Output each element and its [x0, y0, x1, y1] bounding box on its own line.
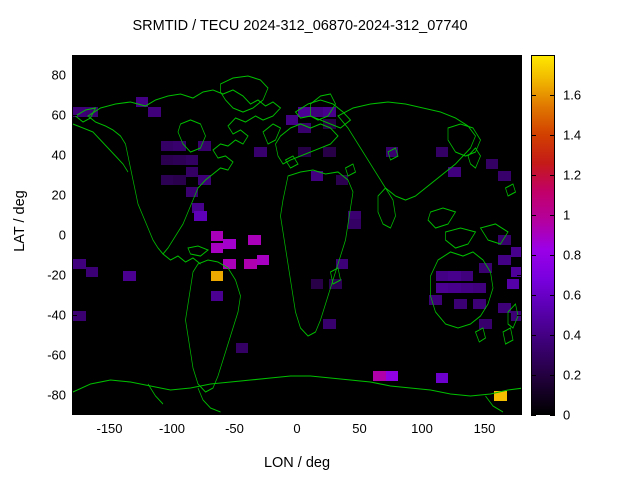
- heatmap-cell: [161, 155, 174, 165]
- x-axis-tick-label: -150: [96, 421, 122, 436]
- y-axis-tick: [72, 115, 77, 116]
- x-axis-tick: [172, 410, 173, 415]
- heatmap-cell: [436, 283, 449, 293]
- y-axis-tick: [72, 315, 77, 316]
- x-axis-tick: [297, 410, 298, 415]
- heatmap-cell: [161, 141, 174, 151]
- x-axis-label: LON / deg: [72, 455, 522, 471]
- heatmap-cell: [498, 255, 511, 265]
- x-axis-tick: [110, 410, 111, 415]
- heatmap-cell: [161, 175, 174, 185]
- heatmap-cell: [311, 171, 324, 181]
- y-axis-tick: [72, 195, 77, 196]
- heatmap-cell: [311, 279, 324, 289]
- x-axis-tick: [360, 55, 361, 60]
- heatmap-cell: [498, 303, 511, 313]
- heatmap-cell: [73, 311, 86, 321]
- heatmap-cell: [473, 283, 486, 293]
- y-axis-tick-label: 20: [28, 188, 66, 203]
- heatmap-cell: [436, 271, 449, 281]
- heatmap-cell: [429, 295, 442, 305]
- heatmap-cell: [311, 107, 324, 117]
- x-axis-tick-label: -50: [225, 421, 244, 436]
- heatmap-cell: [386, 147, 399, 157]
- colorbar-tick: [531, 95, 536, 96]
- y-axis-tick: [72, 395, 77, 396]
- heatmap-cell: [298, 107, 311, 117]
- heatmap-cell: [386, 371, 399, 381]
- heatmap-cell: [329, 279, 342, 289]
- colorbar-tick: [531, 135, 536, 136]
- heatmap-cell: [186, 155, 199, 165]
- x-axis-tick: [235, 410, 236, 415]
- heatmap-cell: [348, 219, 361, 229]
- y-axis-tick-label: 40: [28, 148, 66, 163]
- colorbar-tick-label: 0.8: [563, 248, 581, 263]
- x-axis-tick: [485, 410, 486, 415]
- heatmap-cell: [248, 235, 261, 245]
- heatmap-plot-area: [72, 55, 522, 415]
- colorbar-tick: [550, 215, 555, 216]
- colorbar-tick: [550, 135, 555, 136]
- colorbar-tick: [531, 335, 536, 336]
- colorbar-tick: [531, 255, 536, 256]
- x-axis-tick: [297, 55, 298, 60]
- heatmap-cell: [223, 239, 236, 249]
- heatmap-cell: [136, 97, 149, 107]
- y-axis-tick: [72, 75, 77, 76]
- heatmap-cell: [194, 211, 207, 221]
- heatmap-cell: [211, 291, 224, 301]
- heatmap-cell: [511, 311, 523, 321]
- page-title: SRMTID / TECU 2024-312_06870-2024-312_07…: [0, 18, 600, 34]
- colorbar-tick-label: 0.4: [563, 328, 581, 343]
- heatmap-cell: [186, 167, 199, 177]
- heatmap-cell: [198, 175, 211, 185]
- heatmap-cell: [86, 267, 99, 277]
- heatmap-cell: [448, 167, 461, 177]
- colorbar-tick: [550, 335, 555, 336]
- x-axis-tick: [172, 55, 173, 60]
- colorbar-tick-label: 0: [563, 408, 570, 423]
- heatmap-cell: [86, 107, 99, 117]
- heatmap-cell: [186, 187, 199, 197]
- heatmap-cell: [494, 391, 507, 401]
- heatmap-cell: [479, 263, 492, 273]
- x-axis-tick-label: -100: [159, 421, 185, 436]
- heatmap-cell: [461, 283, 474, 293]
- x-axis-tick-label: 50: [352, 421, 366, 436]
- y-axis-tick-label: -60: [28, 348, 66, 363]
- y-axis-tick-label: 60: [28, 108, 66, 123]
- colorbar-tick: [550, 295, 555, 296]
- heatmap-cell: [479, 319, 492, 329]
- colorbar-tick: [550, 375, 555, 376]
- heatmap-cell: [173, 175, 186, 185]
- colorbar-tick: [531, 215, 536, 216]
- heatmap-cell: [211, 243, 224, 253]
- heatmap-cell: [73, 259, 86, 269]
- x-axis-tick: [485, 55, 486, 60]
- y-axis-tick: [517, 355, 522, 356]
- heatmap-cell: [323, 107, 336, 117]
- y-axis-tick-label: -40: [28, 308, 66, 323]
- heatmap-cell: [244, 259, 257, 269]
- y-axis-tick: [517, 115, 522, 116]
- colorbar-tick: [550, 95, 555, 96]
- y-axis-tick-label: -20: [28, 268, 66, 283]
- x-axis-tick-label: 0: [293, 421, 300, 436]
- x-axis-tick: [360, 410, 361, 415]
- heatmap-cell: [323, 119, 336, 129]
- heatmap-cell: [298, 123, 311, 133]
- y-axis-tick: [517, 275, 522, 276]
- heatmap-cell: [473, 299, 486, 309]
- colorbar-tick-label: 1.6: [563, 88, 581, 103]
- heatmap-cell: [211, 231, 224, 241]
- heatmap-cell: [257, 255, 270, 265]
- heatmap-cell: [298, 147, 311, 157]
- heatmap-cell: [436, 373, 449, 383]
- y-axis-tick-label: -80: [28, 388, 66, 403]
- heatmap-cell: [323, 147, 336, 157]
- heatmap-cell: [173, 141, 186, 151]
- heatmap-cell: [486, 159, 499, 169]
- x-axis-tick: [422, 410, 423, 415]
- y-axis-label: LAT / deg: [12, 121, 28, 321]
- y-axis-tick: [72, 235, 77, 236]
- heatmap-cell: [211, 271, 224, 281]
- heatmap-cell: [123, 271, 136, 281]
- y-axis-tick: [517, 395, 522, 396]
- y-axis-tick: [72, 275, 77, 276]
- heatmap-cell: [336, 259, 349, 269]
- heatmap-cell: [148, 107, 161, 117]
- heatmap-cell: [373, 371, 386, 381]
- x-axis-tick: [235, 55, 236, 60]
- heatmap-cell: [223, 259, 236, 269]
- heatmap-cell: [254, 147, 267, 157]
- y-axis-tick: [517, 235, 522, 236]
- heatmap-cell: [436, 147, 449, 157]
- heatmap-cell: [323, 319, 336, 329]
- y-axis-tick: [517, 155, 522, 156]
- y-axis-tick: [517, 195, 522, 196]
- colorbar-tick: [531, 175, 536, 176]
- heatmap-cell: [507, 279, 520, 289]
- heatmap-cell: [336, 175, 349, 185]
- heatmap-cell: [173, 155, 186, 165]
- x-axis-tick: [422, 55, 423, 60]
- heatmap-cell: [286, 115, 299, 125]
- y-axis-tick: [72, 155, 77, 156]
- colorbar-tick-label: 1.4: [563, 128, 581, 143]
- heatmap-cell: [498, 235, 511, 245]
- colorbar-tick: [531, 375, 536, 376]
- y-axis-tick: [72, 355, 77, 356]
- colorbar-tick-label: 1: [563, 208, 570, 223]
- y-axis-tick-label: 0: [28, 228, 66, 243]
- colorbar-tick-label: 1.2: [563, 168, 581, 183]
- heatmap-cell: [454, 299, 467, 309]
- heatmap-cell: [511, 247, 523, 257]
- colorbar-tick: [550, 415, 555, 416]
- colorbar-tick: [550, 255, 555, 256]
- heatmap-cell: [448, 271, 461, 281]
- y-axis-tick: [517, 315, 522, 316]
- heatmap-cell: [448, 283, 461, 293]
- heatmap-cell: [236, 343, 249, 353]
- y-axis-tick-label: 80: [28, 68, 66, 83]
- heatmap-cell: [461, 271, 474, 281]
- y-axis-tick: [517, 75, 522, 76]
- colorbar-tick: [531, 415, 536, 416]
- heatmap-cells: [73, 56, 522, 415]
- colorbar-tick-label: 0.2: [563, 368, 581, 383]
- heatmap-cell: [498, 171, 511, 181]
- colorbar-tick-label: 0.6: [563, 288, 581, 303]
- x-axis-tick-label: 150: [474, 421, 496, 436]
- x-axis-tick-label: 100: [411, 421, 433, 436]
- x-axis-tick: [110, 55, 111, 60]
- colorbar: [531, 55, 555, 415]
- colorbar-tick: [531, 295, 536, 296]
- heatmap-cell: [198, 141, 211, 151]
- colorbar-gradient: [532, 56, 554, 414]
- colorbar-tick: [550, 175, 555, 176]
